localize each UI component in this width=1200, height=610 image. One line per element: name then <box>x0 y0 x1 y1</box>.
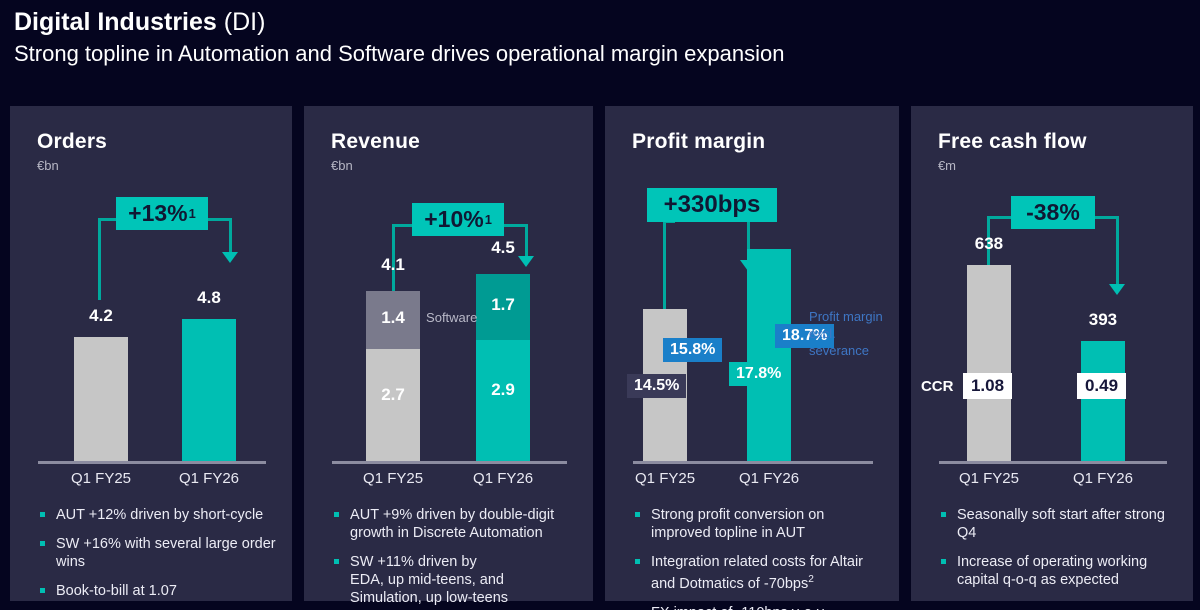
chart-revenue: +10%1 1.4 2.7 4.1 1.7 <box>304 182 593 488</box>
delta-badge-value: -38% <box>1026 199 1080 226</box>
bullet-text: Seasonally soft start after strong Q4 <box>957 507 1165 541</box>
connector-arrow-icon <box>1109 284 1125 295</box>
ccr-label: CCR <box>921 378 954 395</box>
list-item: SW +11% driven by EDA, up mid-teens, and… <box>332 553 577 607</box>
bullet-text: AUT +12% driven by short-cycle <box>56 507 263 523</box>
category-label-q1fy26: Q1 FY26 <box>1058 470 1148 487</box>
category-label-q1fy26: Q1 FY26 <box>458 470 548 487</box>
bullet-dot-icon <box>635 512 640 517</box>
bullet-text: AUT +9% driven by double-digit growth in… <box>350 507 554 541</box>
delta-badge-revenue: +10%1 <box>412 203 504 236</box>
list-item: Increase of operating working capital q-… <box>939 553 1177 589</box>
chart-free-cash-flow: -38% 638 393 CCR 1.08 0.49 Q1 FY25 Q1 FY… <box>911 182 1193 488</box>
bar-segment-label-automation-q1fy26: 2.9 <box>476 380 530 400</box>
panel-title-free-cash-flow: Free cash flow <box>938 130 1087 154</box>
bar-q1fy25 <box>74 337 128 461</box>
bullet-text: Book-to-bill at 1.07 <box>56 583 177 599</box>
list-item: Seasonally soft start after strong Q4 <box>939 506 1177 542</box>
chart-axis-line <box>38 461 266 464</box>
bar-q1fy25 <box>967 265 1011 461</box>
delta-badge-orders: +13%1 <box>116 197 208 230</box>
bar-label-q1fy26: 4.8 <box>182 288 236 308</box>
bullet-list-free-cash-flow: Seasonally soft start after strong Q4 In… <box>939 506 1177 600</box>
list-item: Book-to-bill at 1.07 <box>38 582 276 600</box>
bar-segment-automation-q1fy25: 2.7 <box>366 349 420 461</box>
bullet-dot-icon <box>635 559 640 564</box>
slide-root: Digital Industries (DI) Strong topline i… <box>0 0 1200 610</box>
bar-total-label-q1fy26: 4.5 <box>476 238 530 258</box>
bar-q1fy26 <box>182 319 236 461</box>
bar-label-q1fy25: 4.2 <box>74 306 128 326</box>
category-label-q1fy25: Q1 FY25 <box>944 470 1034 487</box>
chip-excl-severance-q1fy25: 15.8% <box>663 338 722 362</box>
bar-label-q1fy25: 638 <box>961 234 1017 254</box>
list-item: SW +16% with several large order wins <box>38 535 276 571</box>
bar-segment-software-q1fy25: 1.4 <box>366 291 420 349</box>
panel-unit-free-cash-flow: €m <box>938 158 956 173</box>
bar-label-q1fy26: 393 <box>1075 310 1131 330</box>
bullet-dot-icon <box>334 512 339 517</box>
panel-orders: Orders €bn +13%1 4.2 4.8 Q1 FY25 <box>10 106 292 601</box>
bullet-text: SW +16% with several large order wins <box>56 536 276 570</box>
delta-badge-footnote: 1 <box>189 206 196 221</box>
list-item: Integration related costs for Altair and… <box>633 553 883 593</box>
connector-left-vertical <box>98 218 101 300</box>
list-item: AUT +12% driven by short-cycle <box>38 506 276 524</box>
chart-axis-line <box>633 461 873 464</box>
page-subtitle: Strong topline in Automation and Softwar… <box>14 39 1184 69</box>
bullet-text: Integration related costs for Altair and… <box>651 554 863 592</box>
panel-title-profit-margin: Profit margin <box>632 130 765 154</box>
delta-badge-value: +330bps <box>664 191 761 219</box>
bullet-footnote: 2 <box>808 574 814 585</box>
chip-margin-q1fy26: 17.8% <box>729 362 788 386</box>
list-item: Strong profit conversion on improved top… <box>633 506 883 542</box>
category-label-q1fy26: Q1 FY26 <box>164 470 254 487</box>
bar-segment-automation-q1fy26: 2.9 <box>476 340 530 461</box>
delta-badge-value: +10% <box>424 206 483 233</box>
bullet-dot-icon <box>40 512 45 517</box>
page-title-suffix: (DI) <box>217 8 266 36</box>
bar-q1fy26 <box>747 249 791 461</box>
bar-segment-software-q1fy26: 1.7 <box>476 274 530 340</box>
note-excl-severance: Profit margin excl. severance <box>809 308 887 359</box>
connector-arrow-icon <box>222 252 238 263</box>
page-title: Digital Industries (DI) <box>14 6 1184 38</box>
stack-annotation-software: Software <box>426 310 477 325</box>
bullet-list-profit-margin: Strong profit conversion on improved top… <box>633 506 883 610</box>
bullet-text: Strong profit conversion on improved top… <box>651 507 824 541</box>
page-title-strong: Digital Industries <box>14 8 217 36</box>
bullet-dot-icon <box>334 559 339 564</box>
chart-axis-line <box>332 461 567 464</box>
bar-stacked-q1fy25: 1.4 2.7 <box>366 291 420 461</box>
bar-q1fy26 <box>1081 341 1125 461</box>
chart-axis-line <box>939 461 1167 464</box>
bullet-dot-icon <box>40 541 45 546</box>
list-item: FX impact of -110bps y-o-y <box>633 604 883 610</box>
category-label-q1fy25: Q1 FY25 <box>620 470 710 487</box>
panel-profit-margin: Profit margin +330bps 15.8% 14.5% 18.7% … <box>605 106 899 601</box>
category-label-q1fy25: Q1 FY25 <box>56 470 146 487</box>
chart-orders: +13%1 4.2 4.8 Q1 FY25 Q1 FY26 <box>10 182 292 488</box>
bar-stacked-q1fy26: 1.7 2.9 <box>476 274 530 461</box>
list-item: AUT +9% driven by double-digit growth in… <box>332 506 577 542</box>
bullet-list-orders: AUT +12% driven by short-cycle SW +16% w… <box>38 506 276 610</box>
panel-title-orders: Orders <box>37 130 107 154</box>
slide-header: Digital Industries (DI) Strong topline i… <box>14 6 1184 69</box>
bullet-list-revenue: AUT +9% driven by double-digit growth in… <box>332 506 577 610</box>
delta-badge-value: +13% <box>128 200 187 227</box>
bullet-text: Increase of operating working capital q-… <box>957 554 1147 588</box>
panel-container: Orders €bn +13%1 4.2 4.8 Q1 FY25 <box>10 106 1193 601</box>
ccr-value-q1fy25: 1.08 <box>963 373 1012 399</box>
delta-badge-profit-margin: +330bps <box>647 188 777 222</box>
chip-margin-q1fy25: 14.5% <box>627 374 686 398</box>
panel-free-cash-flow: Free cash flow €m -38% 638 393 CCR 1.08 … <box>911 106 1193 601</box>
bullet-dot-icon <box>941 559 946 564</box>
bullet-dot-icon <box>941 512 946 517</box>
bar-segment-label-automation-q1fy25: 2.7 <box>366 385 420 405</box>
bar-segment-label-software-q1fy26: 1.7 <box>476 295 530 315</box>
bullet-text: FX impact of -110bps y-o-y <box>651 605 824 610</box>
panel-unit-orders: €bn <box>37 158 59 173</box>
bullet-text: SW +11% driven by EDA, up mid-teens, and… <box>350 554 508 606</box>
category-label-q1fy26: Q1 FY26 <box>724 470 814 487</box>
category-label-q1fy25: Q1 FY25 <box>348 470 438 487</box>
bar-segment-label-software-q1fy25: 1.4 <box>366 308 420 328</box>
panel-title-revenue: Revenue <box>331 130 420 154</box>
connector-right-vertical <box>229 218 232 254</box>
panel-unit-revenue: €bn <box>331 158 353 173</box>
delta-badge-footnote: 1 <box>485 212 492 227</box>
ccr-value-q1fy26: 0.49 <box>1077 373 1126 399</box>
bar-total-label-q1fy25: 4.1 <box>366 255 420 275</box>
chart-profit-margin: +330bps 15.8% 14.5% 18.7% 17.8% Profit m… <box>605 182 899 488</box>
connector-right-vertical <box>1116 216 1119 286</box>
bullet-dot-icon <box>40 588 45 593</box>
panel-revenue: Revenue €bn +10%1 1.4 2.7 <box>304 106 593 601</box>
delta-badge-free-cash-flow: -38% <box>1011 196 1095 229</box>
